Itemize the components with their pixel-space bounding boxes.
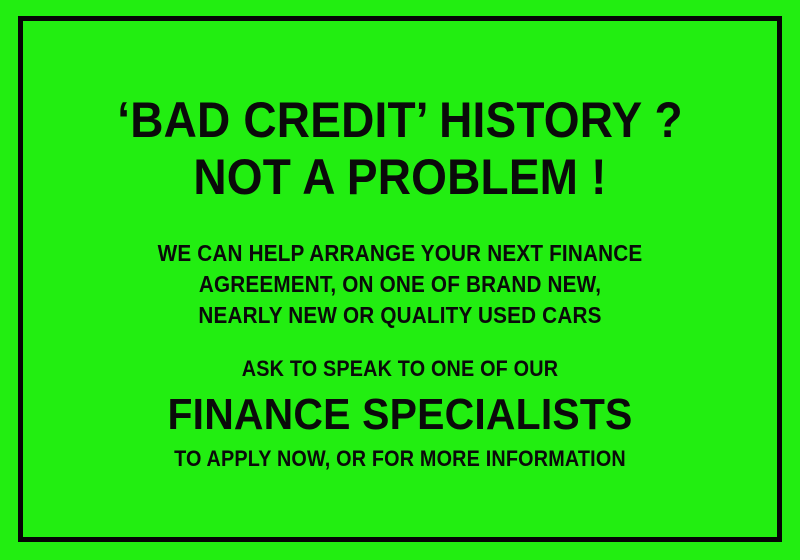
body-line-2: AGREEMENT, ON ONE OF BRAND NEW, (40, 269, 760, 300)
body-line-1: WE CAN HELP ARRANGE YOUR NEXT FINANCE (40, 238, 760, 269)
call-to-action-block: ASK TO SPEAK TO ONE OF OUR FINANCE SPECI… (0, 354, 800, 474)
headline-line-1: ‘BAD CREDIT’ HISTORY ? (32, 92, 768, 149)
cta-footer-text: TO APPLY NOW, OR FOR MORE INFORMATION (40, 444, 760, 474)
body-paragraph-block: WE CAN HELP ARRANGE YOUR NEXT FINANCE AG… (0, 238, 800, 331)
cta-headline-text: FINANCE SPECIALISTS (28, 388, 772, 442)
poster-content: ‘BAD CREDIT’ HISTORY ? NOT A PROBLEM ! W… (0, 0, 800, 560)
body-line-3: NEARLY NEW OR QUALITY USED CARS (40, 300, 760, 331)
headline-block: ‘BAD CREDIT’ HISTORY ? NOT A PROBLEM ! (0, 92, 800, 206)
advertisement-poster: ‘BAD CREDIT’ HISTORY ? NOT A PROBLEM ! W… (0, 0, 800, 560)
headline-line-2: NOT A PROBLEM ! (32, 149, 768, 206)
cta-lead-text: ASK TO SPEAK TO ONE OF OUR (40, 354, 760, 384)
